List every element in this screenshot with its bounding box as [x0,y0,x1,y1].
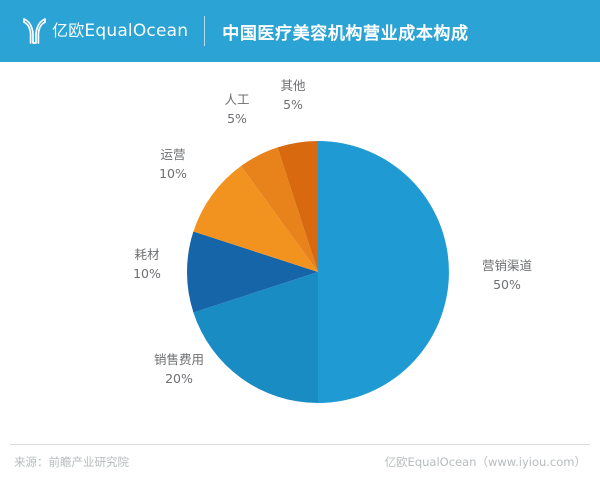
footer-source: 来源：前瞻产业研究院 [14,457,129,469]
brand-logo: 亿欧EqualOcean [22,16,188,46]
page-title: 中国医疗美容机构营业成本构成 [222,19,468,44]
header-divider [204,16,205,46]
pie-slice-marketing[interactable] [318,141,449,403]
brand-name-cn: 亿欧 [52,21,84,40]
brand-name-en: EqualOcean [84,21,188,41]
chart-page: 亿欧EqualOcean 中国医疗美容机构营业成本构成 营销渠道 50% [0,0,600,481]
brand-name: 亿欧EqualOcean [52,23,188,40]
equalocean-logo-icon [22,17,48,45]
header-bar: 亿欧EqualOcean 中国医疗美容机构营业成本构成 [0,0,600,62]
footer-credit: 亿欧EqualOcean（www.iyiou.com） [385,457,586,469]
footer-bar: 来源：前瞻产业研究院 亿欧EqualOcean（www.iyiou.com） [0,445,600,481]
pie-chart: 营销渠道 50% 销售费用 20% 耗材 10% 运营 10% 人工 5% 其他… [0,62,600,440]
pie-chart-svg [0,62,600,440]
